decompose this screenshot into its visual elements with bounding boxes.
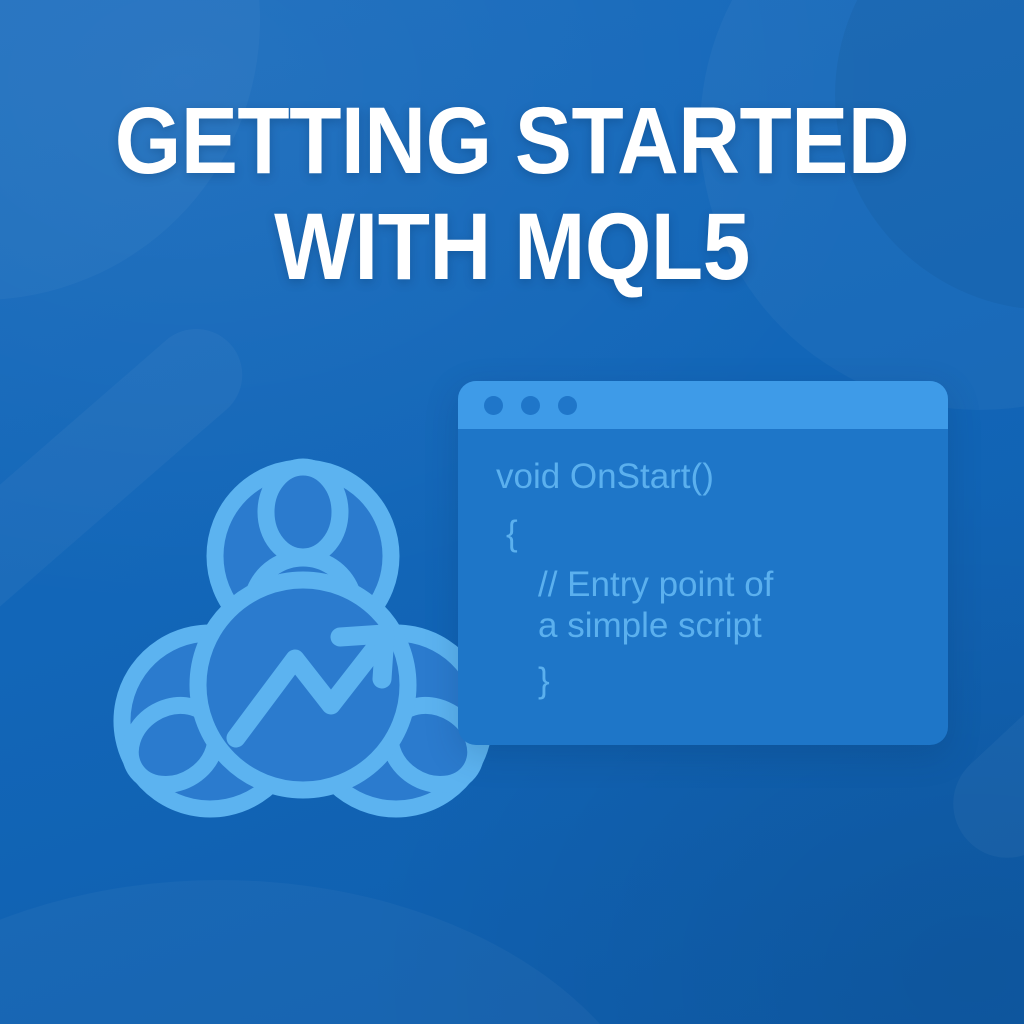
page-title: GETTING STARTED WITH MQL5	[0, 95, 1024, 293]
code-window: void OnStart() { // Entry point of a sim…	[458, 381, 948, 745]
page-title-line-1: GETTING STARTED	[51, 95, 973, 188]
poster-canvas: GETTING STARTED WITH MQL5	[0, 0, 1024, 1024]
logo-svg	[88, 448, 518, 852]
pill-bottom-right-2	[1017, 782, 1024, 1024]
window-dot-close-icon[interactable]	[484, 396, 503, 415]
code-line-comment-2: a simple script	[496, 608, 914, 643]
window-dot-maximize-icon[interactable]	[558, 396, 577, 415]
window-dot-minimize-icon[interactable]	[521, 396, 540, 415]
code-line-signature: void OnStart()	[496, 459, 914, 494]
mql5-community-logo	[88, 448, 518, 852]
code-editor-body[interactable]: void OnStart() { // Entry point of a sim…	[458, 429, 948, 698]
code-line-comment-1: // Entry point of	[496, 567, 914, 602]
blob-bottom-left	[0, 880, 670, 1024]
code-line-brace-open: {	[496, 516, 914, 551]
page-title-line-2: WITH MQL5	[51, 201, 973, 294]
code-window-titlebar	[458, 381, 948, 429]
code-line-brace-close: }	[496, 663, 914, 698]
